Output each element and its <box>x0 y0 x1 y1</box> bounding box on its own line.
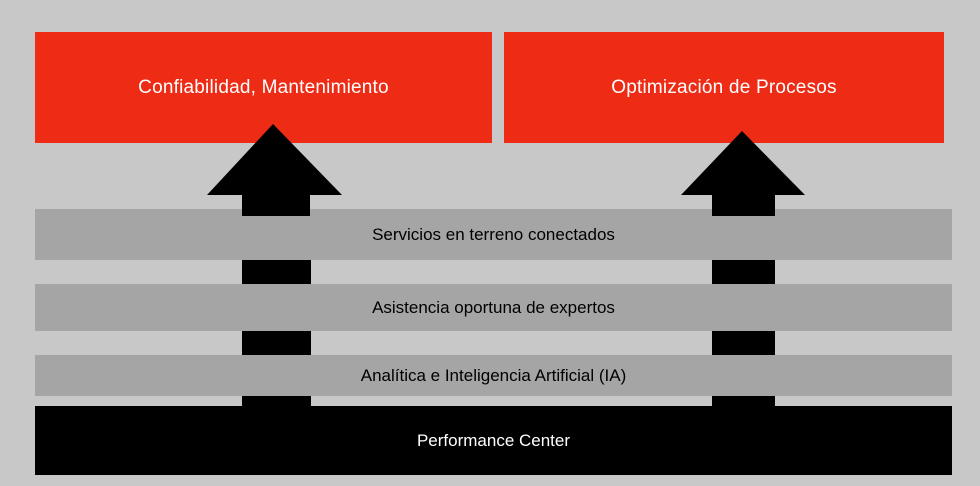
diagram-canvas: Confiabilidad, Mantenimiento Optimizació… <box>0 0 980 486</box>
layer-bar-servicios-en-terreno-conectados[interactable]: Servicios en terreno conectados <box>35 209 952 260</box>
layer-bar-label: Analítica e Inteligencia Artificial (IA) <box>361 366 627 386</box>
outcome-box-label: Optimización de Procesos <box>611 77 837 99</box>
outcome-box-label: Confiabilidad, Mantenimiento <box>138 77 389 99</box>
layer-bar-label: Asistencia oportuna de expertos <box>372 298 615 318</box>
outcome-box-optimizacion[interactable]: Optimización de Procesos <box>504 32 944 143</box>
layer-bar-label: Performance Center <box>417 431 570 451</box>
layer-bar-asistencia-oportuna-de-expertos[interactable]: Asistencia oportuna de expertos <box>35 284 952 331</box>
layer-bar-analitica-e-inteligencia-artificial[interactable]: Analítica e Inteligencia Artificial (IA) <box>35 355 952 396</box>
layer-bar-label: Servicios en terreno conectados <box>372 225 615 245</box>
up-arrow-left-icon <box>200 124 352 216</box>
layer-bar-performance-center[interactable]: Performance Center <box>35 406 952 475</box>
up-arrow-right-icon <box>674 131 814 216</box>
